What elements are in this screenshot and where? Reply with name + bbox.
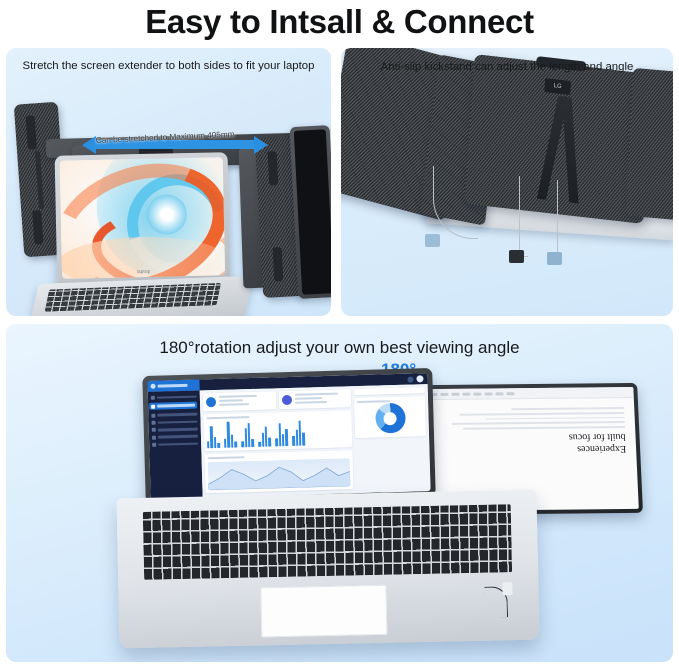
laptop-lid-main (142, 368, 435, 504)
avatar[interactable] (416, 375, 423, 382)
arrow-right-icon (254, 136, 268, 154)
usb-plug-icon (509, 250, 524, 263)
usb-plug-icon (425, 234, 440, 247)
sidebar-item[interactable] (152, 420, 198, 425)
laptop-base-main (116, 490, 539, 649)
panel-caption-stretch: Stretch the screen extender to both side… (6, 60, 331, 72)
kickstand-scene-illustration: LG (341, 48, 673, 316)
bar-chart-card (203, 410, 352, 451)
page-title: Easy to Intsall & Connect (0, 0, 679, 44)
document-heading-1: Experiences (438, 443, 627, 456)
hinge-icon (268, 151, 279, 185)
dashboard-app (147, 373, 430, 499)
dashboard-body (148, 384, 431, 499)
usb-plug-icon (547, 252, 562, 265)
sidebar-item[interactable] (151, 412, 197, 417)
dashboard-content (200, 384, 431, 497)
hinge-icon (273, 247, 284, 281)
area-chart (208, 458, 351, 490)
laptop-screen-wallpaper: laptop (60, 157, 225, 278)
slide-slot (35, 151, 44, 209)
stretch-scene-illustration: laptop Can be stretched to Maximum 405mm (6, 48, 331, 316)
panel-caption-kickstand: Anti-slip kickstand can adjust the lengt… (341, 61, 673, 73)
product-feature-graphic: Easy to Intsall & Connect (0, 0, 679, 666)
sidebar-item-active[interactable] (149, 402, 197, 410)
area-chart-svg (208, 458, 351, 490)
bar-chart (207, 418, 350, 448)
cable-plug-icon (502, 582, 512, 595)
stat-card (278, 389, 351, 409)
dashboard-sidebar (148, 390, 203, 498)
panel-rotation: 180°rotation adjust your own best viewin… (6, 324, 673, 662)
stat-card (203, 391, 276, 411)
sidebar-item[interactable] (152, 427, 198, 432)
rotation-scene-illustration: 180° Experiences built for focus (6, 324, 673, 662)
hinge-icon (32, 210, 43, 245)
laptop-device: laptop (56, 154, 248, 314)
stretch-arrow-banner: Can be stretched to Maximum 405mm (82, 134, 268, 156)
laptop-lid: laptop (55, 152, 231, 292)
brand-icon (150, 384, 155, 389)
notification-icon[interactable] (407, 376, 413, 382)
panel-kickstand: LG Anti-slip kickstand can adjust the le… (341, 48, 673, 316)
connector-cable (433, 166, 478, 239)
sidebar-item[interactable] (152, 442, 198, 447)
abstract-swirl-wallpaper (60, 157, 225, 278)
document-page-rotated: Experiences built for focus (426, 398, 637, 462)
donut-chart (375, 403, 406, 434)
laptop-trackpad[interactable] (260, 585, 387, 638)
info-list-card (354, 387, 425, 395)
panel-stretch-extender: laptop Can be stretched to Maximum 405mm (6, 48, 331, 316)
laptop-keyboard (45, 283, 222, 312)
laptop-keyboard-full[interactable] (143, 504, 512, 580)
sidebar-item[interactable] (151, 395, 197, 400)
connector-cable (557, 180, 562, 257)
donut-chart-card (354, 396, 426, 438)
hinge-icon (26, 115, 37, 150)
laptop-with-extender: Experiences built for focus (46, 372, 636, 654)
sidebar-item[interactable] (152, 434, 198, 439)
right-folding-panel (625, 68, 673, 221)
area-chart-card (204, 450, 353, 493)
brand-logo: LG (544, 78, 571, 95)
connector-cable (519, 176, 528, 257)
